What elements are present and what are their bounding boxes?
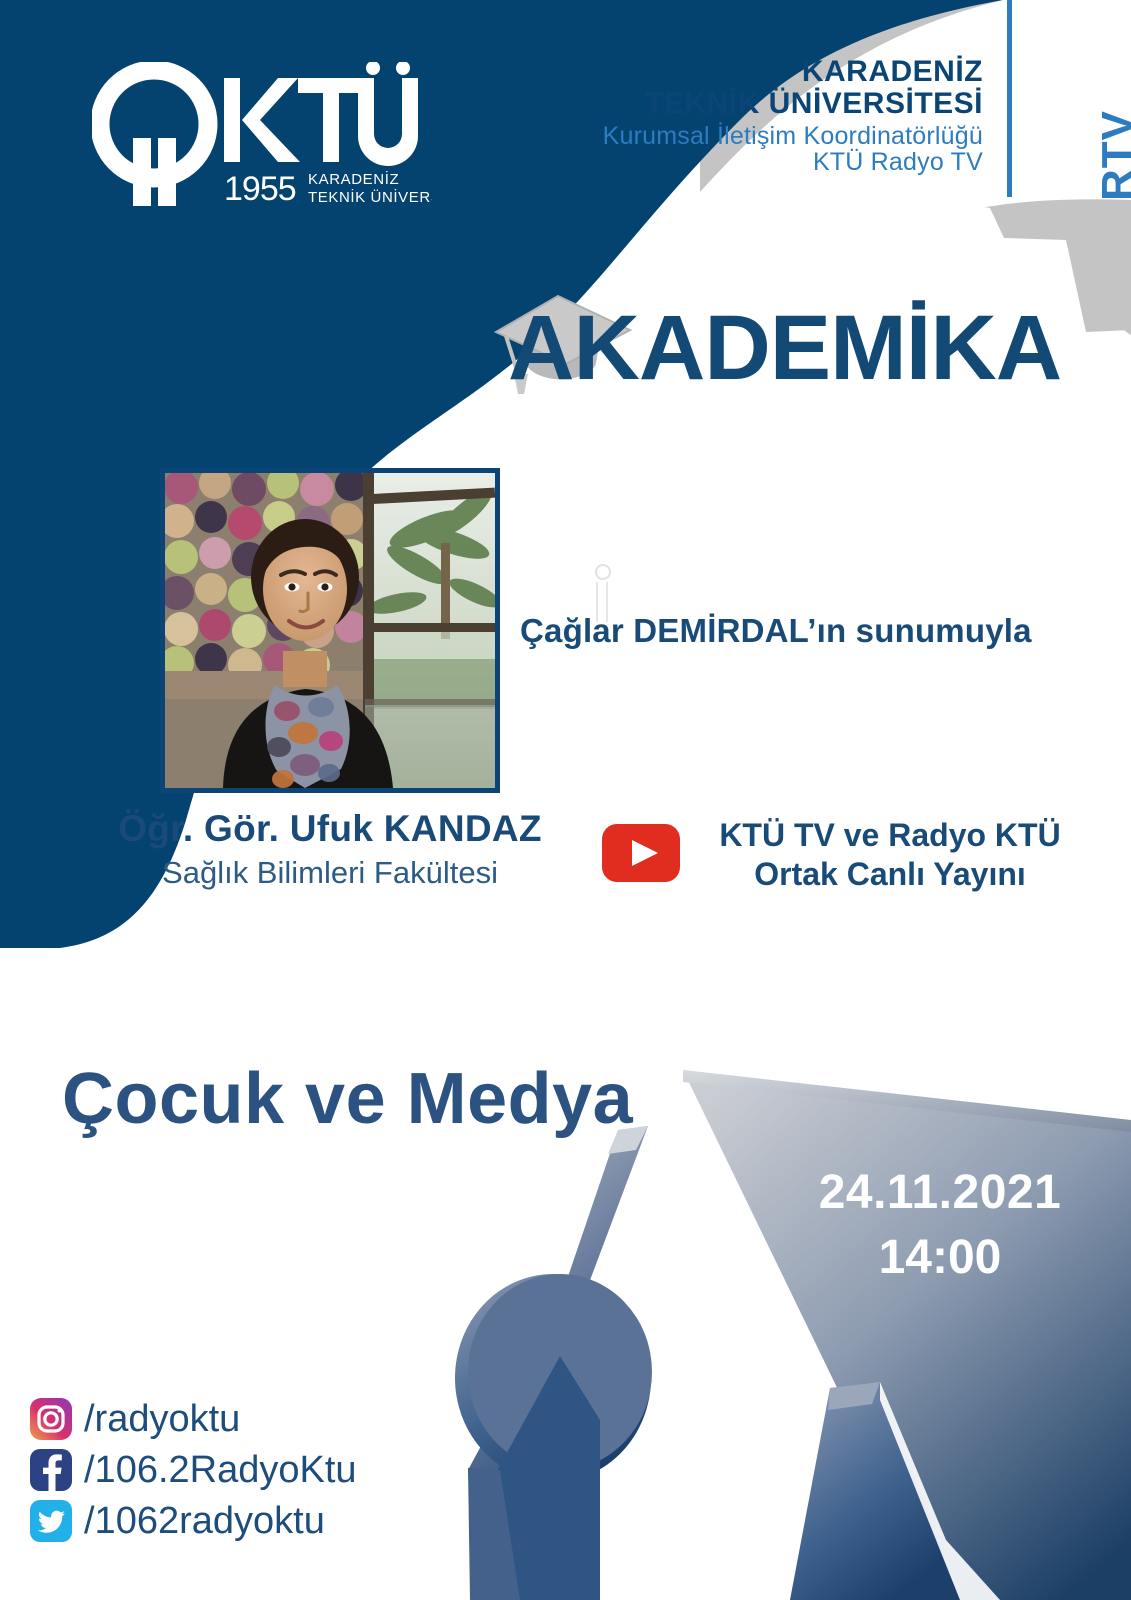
header-line-universitesi: TEKNİK ÜNİVERSİTESİ <box>543 88 983 120</box>
poster-canvas: 1955 KARADENİZ TEKNİK ÜNİVERSİTESİ KARAD… <box>0 0 1131 1600</box>
header-vertical-divider <box>1007 0 1012 197</box>
social-row-twitter[interactable]: /1062radyoktu <box>30 1497 357 1544</box>
presenter-credit: Çağlar DEMİRDAL’ın sunumuyla <box>520 612 1032 650</box>
header-institution-text: KARADENİZ TEKNİK ÜNİVERSİTESİ Kurumsal İ… <box>543 56 983 176</box>
header-line-koordinatorluk: Kurumsal İletişim Koordinatörlüğü <box>543 123 983 150</box>
header-line-karadeniz: KARADENİZ <box>543 56 983 88</box>
broadcast-line-2: Ortak Canlı Yayını <box>690 855 1090 894</box>
header-line-radyotv: KTÜ Radyo TV <box>543 149 983 176</box>
speaker-photo <box>160 468 500 793</box>
akademika-title: AKADEMİKA <box>508 302 1061 394</box>
social-handle-twitter[interactable]: /1062radyoktu <box>84 1502 325 1540</box>
background-shapes <box>0 0 1131 1600</box>
rtv-logo-text: RTV <box>1093 110 1131 201</box>
event-time: 14:00 <box>790 1230 1090 1285</box>
broadcast-line-1: KTÜ TV ve Radyo KTÜ <box>690 816 1090 855</box>
schedule-block: 24.11.2021 14:00 <box>790 1165 1090 1285</box>
svg-text:1955: 1955 <box>224 170 296 208</box>
program-title-block: AKADEMİKA <box>480 288 1100 418</box>
event-date: 24.11.2021 <box>790 1165 1090 1220</box>
facebook-icon[interactable] <box>30 1449 72 1491</box>
twitter-icon[interactable] <box>30 1500 72 1542</box>
social-handle-facebook[interactable]: /106.2RadyoKtu <box>84 1451 357 1489</box>
speaker-faculty: Sağlık Bilimleri Fakültesi <box>60 855 600 891</box>
social-row-facebook[interactable]: /106.2RadyoKtu <box>30 1446 357 1493</box>
broadcast-info: KTÜ TV ve Radyo KTÜ Ortak Canlı Yayını <box>690 816 1090 894</box>
svg-text:KARADENİZ: KARADENİZ <box>308 170 399 188</box>
ktu-logo: 1955 KARADENİZ TEKNİK ÜNİVERSİTESİ <box>92 62 432 212</box>
instagram-icon[interactable] <box>30 1398 72 1440</box>
youtube-icon[interactable] <box>602 824 680 882</box>
topic-title: Çocuk ve Medya <box>62 1058 633 1140</box>
speaker-name: Öğr. Gör. Ufuk KANDAZ <box>60 808 600 850</box>
social-row-instagram[interactable]: /radyoktu <box>30 1395 357 1442</box>
social-handle-instagram[interactable]: /radyoktu <box>84 1400 240 1438</box>
social-links: /radyoktu /106.2RadyoKtu /1062radyoktu <box>30 1395 357 1548</box>
svg-text:TEKNİK ÜNİVERSİTESİ: TEKNİK ÜNİVERSİTESİ <box>308 188 432 206</box>
